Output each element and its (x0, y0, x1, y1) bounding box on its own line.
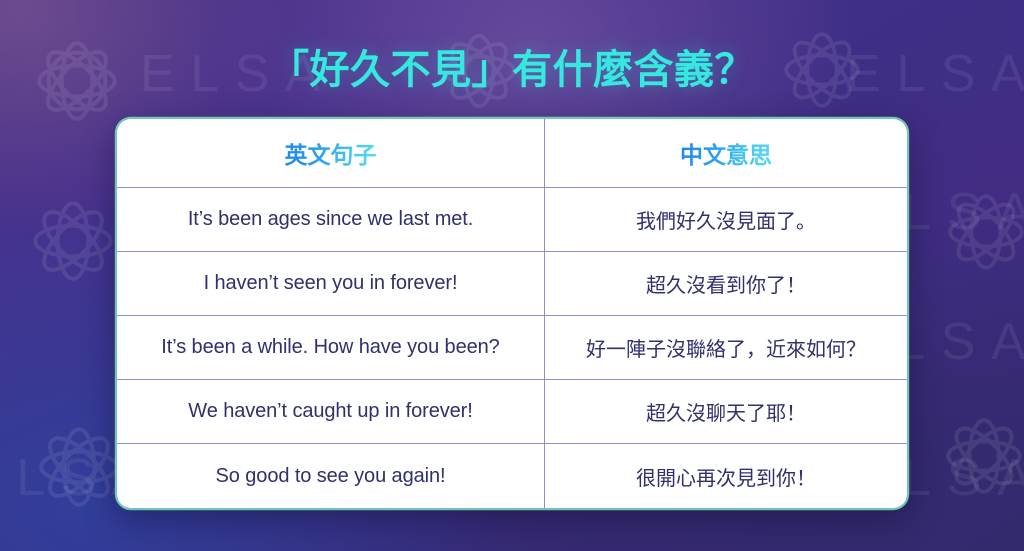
phrase-table-card: 英文句子 中文意思 It’s been ages since we last m… (117, 119, 907, 508)
english-phrase: It’s been a while. How have you been? (161, 336, 499, 359)
english-phrase: So good to see you again! (216, 465, 446, 488)
table-header-row: 英文句子 中文意思 (117, 119, 907, 188)
chinese-meaning: 很開心再次見到你！ (636, 462, 816, 491)
table-row: I haven’t seen you in forever! 超久沒看到你了！ (117, 252, 907, 316)
table-row: We haven’t caught up in forever! 超久沒聊天了耶… (117, 380, 907, 444)
english-phrase: We haven’t caught up in forever! (188, 400, 472, 423)
cell-english: It’s been ages since we last met. (117, 188, 545, 251)
cell-english: So good to see you again! (117, 444, 545, 508)
page-title: 「好久不見」有什麼含義？ (0, 48, 1024, 93)
chinese-meaning: 超久沒聊天了耶！ (646, 397, 806, 426)
cell-english: We haven’t caught up in forever! (117, 380, 545, 443)
cell-chinese: 超久沒看到你了！ (545, 252, 907, 315)
column-header-english-label: 英文句子 (285, 136, 377, 170)
elsa-star-icon (14, 182, 132, 300)
slide-canvas: ELSA ELSA ELSA ELSA ELSA ELSA 「好久不見」有什麼含… (0, 0, 1024, 551)
column-header-chinese-label: 中文意思 (680, 136, 772, 170)
column-header-english: 英文句子 (117, 119, 545, 187)
english-phrase: It’s been ages since we last met. (188, 208, 473, 231)
cell-chinese: 超久沒聊天了耶！ (545, 380, 907, 443)
table-row: It’s been a while. How have you been? 好一… (117, 316, 907, 380)
elsa-star-icon (930, 176, 1024, 288)
chinese-meaning: 我們好久沒見面了。 (636, 205, 816, 234)
cell-chinese: 我們好久沒見面了。 (545, 188, 907, 251)
chinese-meaning: 超久沒看到你了！ (646, 269, 806, 298)
english-phrase: I haven’t seen you in forever! (204, 272, 458, 295)
elsa-star-icon (928, 400, 1024, 512)
chinese-meaning: 好一陣子沒聯絡了，近來如何？ (586, 333, 866, 362)
cell-english: I haven’t seen you in forever! (117, 252, 545, 315)
table-row: It’s been ages since we last met. 我們好久沒見… (117, 188, 907, 252)
cell-chinese: 好一陣子沒聯絡了，近來如何？ (545, 316, 907, 379)
cell-chinese: 很開心再次見到你！ (545, 444, 907, 508)
table-row: So good to see you again! 很開心再次見到你！ (117, 444, 907, 508)
column-header-chinese: 中文意思 (545, 119, 907, 187)
cell-english: It’s been a while. How have you been? (117, 316, 545, 379)
